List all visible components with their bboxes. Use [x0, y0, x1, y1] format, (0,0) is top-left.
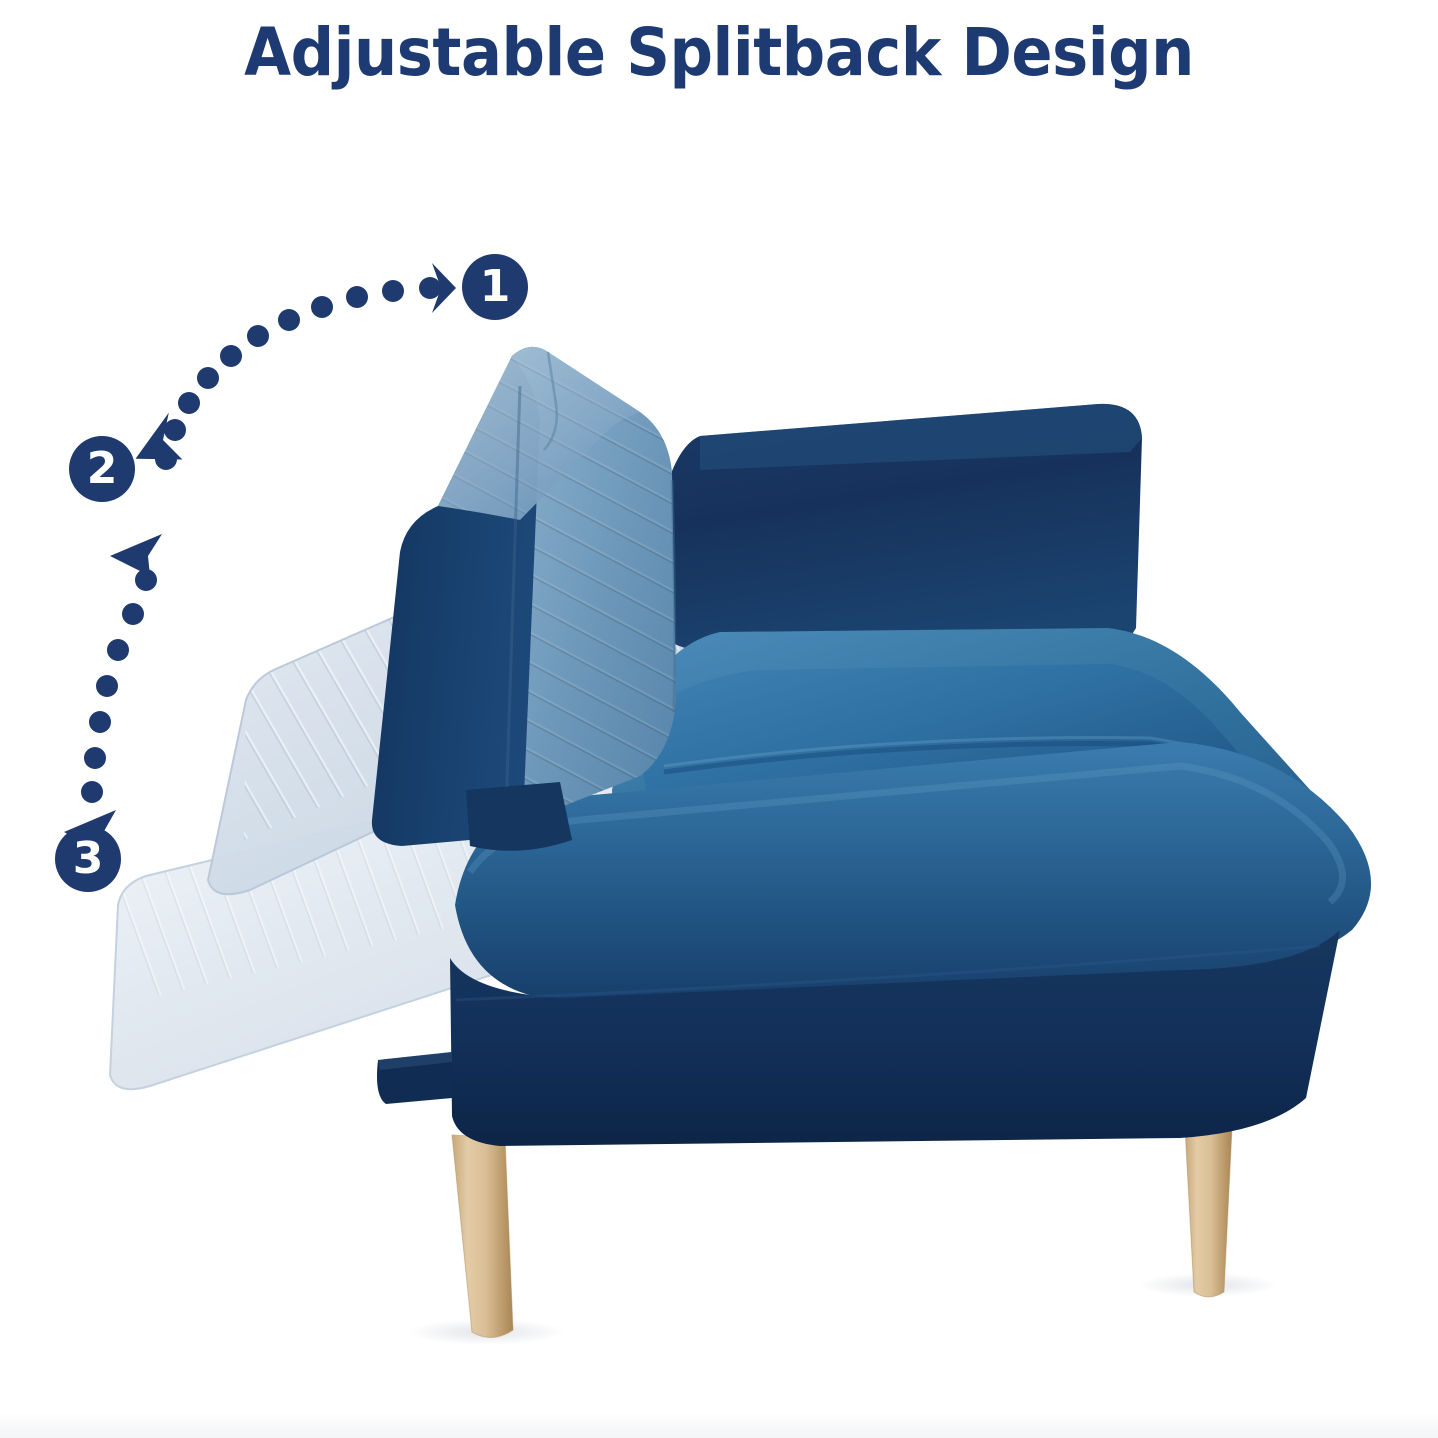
step-badge-2: 2	[69, 436, 135, 502]
sofa-leg-front	[452, 1135, 513, 1338]
step-badge-3: 3	[55, 826, 121, 892]
dotted-arc-upper	[155, 277, 441, 470]
arrowhead-upward	[110, 534, 162, 576]
splitback-backrest	[372, 347, 676, 851]
dotted-arc-lower	[81, 569, 157, 803]
sofa-leg-rear	[1185, 1128, 1232, 1297]
recline-release-lever	[377, 1052, 452, 1104]
product-illustration	[0, 0, 1438, 1438]
step-badge-1: 1	[462, 254, 528, 320]
bottom-edge-fade	[0, 1412, 1438, 1438]
product-infographic: Adjustable Splitback Design	[0, 0, 1438, 1438]
sofa-back-panel	[648, 404, 1142, 664]
